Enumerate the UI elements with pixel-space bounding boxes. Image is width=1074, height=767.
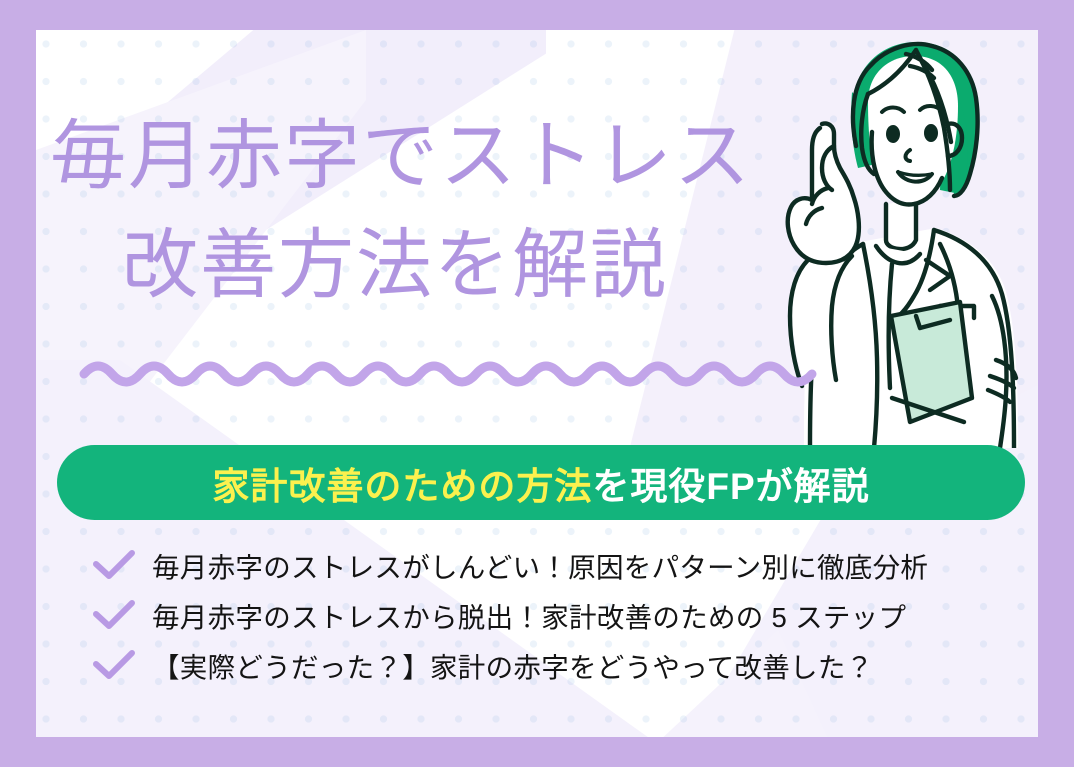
subtitle-banner-text: 家計改善のための方法を現役FPが解説: [212, 456, 869, 510]
wavy-line-icon: [78, 348, 838, 404]
subtitle-rest: を現役FPが解説: [592, 466, 869, 507]
poster-card: 毎月赤字でストレス 改善方法を解説 家計改善のための方法を現役FPが解説: [36, 30, 1038, 737]
poster-root: 毎月赤字でストレス 改善方法を解説 家計改善のための方法を現役FPが解説: [0, 0, 1074, 767]
list-item: 毎月赤字のストレスがしんどい！原因をパターン別に徹底分析: [92, 540, 1032, 590]
page-title-line2: 改善方法を解説: [44, 211, 864, 320]
check-icon: [92, 600, 136, 630]
page-title-line1: 毎月赤字でストレス: [44, 102, 864, 211]
list-item-label: 毎月赤字のストレスから脱出！家計改善のための 5 ステップ: [152, 595, 906, 635]
check-icon: [92, 650, 136, 680]
list-item: 毎月赤字のストレスから脱出！家計改善のための 5 ステップ: [92, 590, 1032, 640]
page-title: 毎月赤字でストレス 改善方法を解説: [44, 102, 864, 321]
list-item-label: 毎月赤字のストレスがしんどい！原因をパターン別に徹底分析: [152, 545, 928, 585]
subtitle-banner: 家計改善のための方法を現役FPが解説: [57, 445, 1025, 520]
bullet-list: 毎月赤字のストレスがしんどい！原因をパターン別に徹底分析 毎月赤字のストレスから…: [92, 540, 1032, 690]
subtitle-highlight: 家計改善のための方法: [212, 466, 592, 507]
list-item: 【実際どうだった？】家計の赤字をどうやって改善した？: [92, 640, 1032, 690]
list-item-label: 【実際どうだった？】家計の赤字をどうやって改善した？: [152, 645, 873, 685]
check-icon: [92, 550, 136, 580]
